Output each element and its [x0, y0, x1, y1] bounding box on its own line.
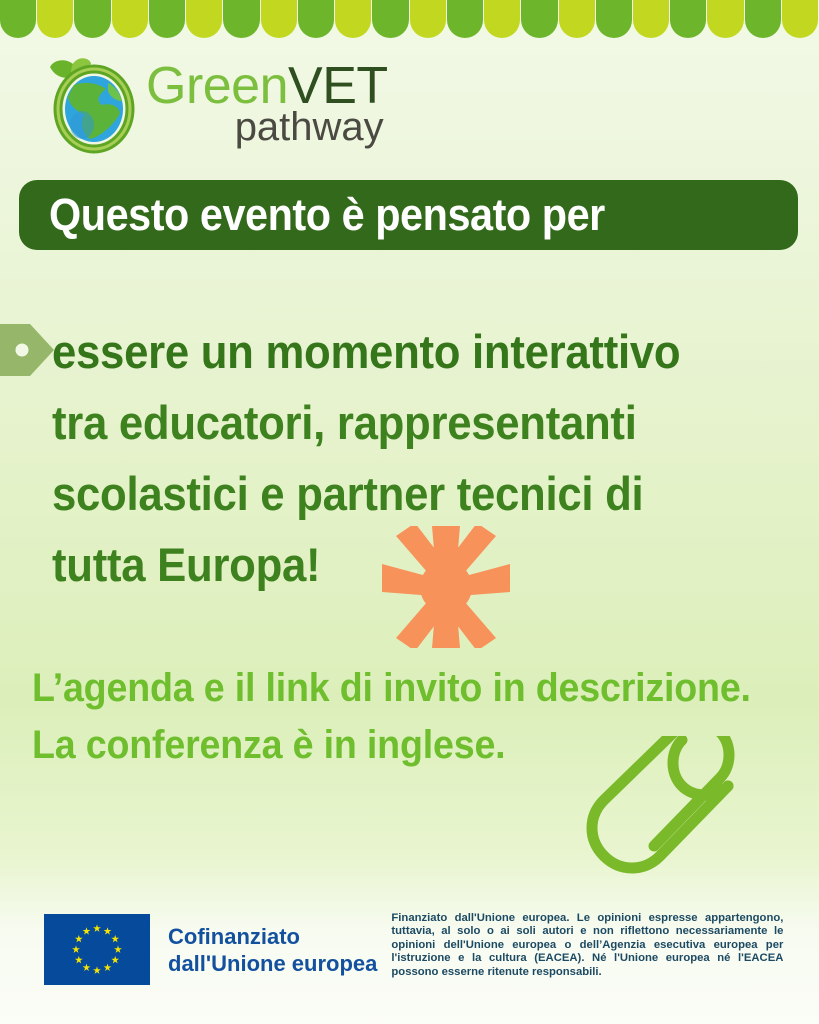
scallop-shape [74, 0, 110, 38]
poster-canvas: GreenVET pathway Questo evento è pensato… [0, 0, 819, 1024]
scallop-shape [149, 0, 185, 38]
scallop-shape [112, 0, 148, 38]
scallop-shape [707, 0, 743, 38]
eu-flag-icon [44, 914, 150, 985]
funding-disclaimer: Finanziato dall'Unione europea. Le opini… [391, 912, 783, 979]
scallop-shape [37, 0, 73, 38]
scallop-shape [633, 0, 669, 38]
asterisk-sparkle-icon [382, 526, 510, 648]
body-line: tra educatori, rappresentanti [52, 387, 722, 458]
eu-cofunding-label: Cofinanziato dall'Unione europea [168, 923, 377, 977]
scallop-shape [596, 0, 632, 38]
headline-banner: Questo evento è pensato per [19, 180, 798, 250]
body-line: essere un momento interattivo [52, 316, 722, 387]
scalloped-top-border [0, 0, 819, 42]
eu-label-line1: Cofinanziato [168, 923, 377, 950]
scallop-shape [559, 0, 595, 38]
eu-label-line2: dall'Unione europea [168, 950, 377, 977]
paperclip-icon [566, 736, 756, 896]
scallop-shape [521, 0, 557, 38]
scallop-shape [335, 0, 371, 38]
greenvet-logo: GreenVET pathway [38, 48, 388, 158]
eu-stars [44, 914, 150, 985]
scallop-shape [0, 0, 36, 38]
body-line: scolastici e partner tecnici di [52, 458, 722, 529]
footer: Cofinanziato dall'Unione europea Finanzi… [0, 892, 819, 1024]
logo-wordmark: GreenVET pathway [146, 63, 388, 147]
logo-name: GreenVET [146, 63, 388, 111]
globe-leaf-logo-icon [38, 51, 142, 155]
scallop-shape [782, 0, 818, 38]
scallop-shape [447, 0, 483, 38]
tag-bullet-icon [0, 318, 56, 382]
scallop-shape [670, 0, 706, 38]
scallop-shape [298, 0, 334, 38]
scallop-shape [372, 0, 408, 38]
scallop-shape [186, 0, 222, 38]
scallop-shape [410, 0, 446, 38]
scallop-shape [484, 0, 520, 38]
eu-cofunding-lockup: Cofinanziato dall'Unione europea [44, 914, 377, 985]
headline-text: Questo evento è pensato per [49, 189, 605, 241]
scallop-shape [223, 0, 259, 38]
note-line: L’agenda e il link di invito in descrizi… [32, 660, 746, 717]
scallop-shape [745, 0, 781, 38]
scallop-shape [261, 0, 297, 38]
